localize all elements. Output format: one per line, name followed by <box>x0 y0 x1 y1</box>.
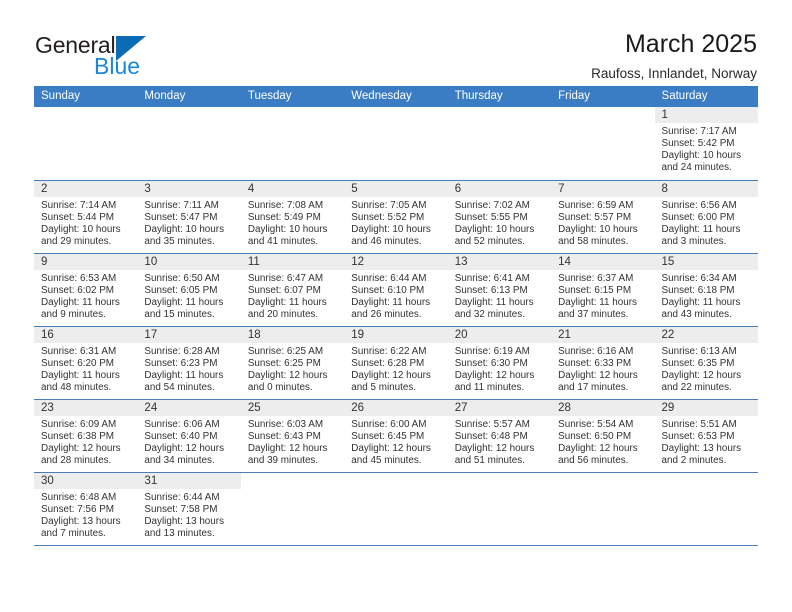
sunset-text: Sunset: 5:57 PM <box>558 212 649 224</box>
calendar-day-cell[interactable]: 13Sunrise: 6:41 AMSunset: 6:13 PMDayligh… <box>448 253 551 326</box>
sunset-text: Sunset: 7:58 PM <box>144 504 235 516</box>
sunset-text: Sunset: 6:40 PM <box>144 431 235 443</box>
calendar-day-cell[interactable]: 17Sunrise: 6:28 AMSunset: 6:23 PMDayligh… <box>137 326 240 399</box>
calendar-day-cell[interactable]: 31Sunrise: 6:44 AMSunset: 7:58 PMDayligh… <box>137 472 240 545</box>
daylight-text: Daylight: 10 hours and 41 minutes. <box>248 224 339 248</box>
sunrise-text: Sunrise: 6:50 AM <box>144 273 235 285</box>
sunrise-text: Sunrise: 7:11 AM <box>144 200 235 212</box>
day-details: Sunrise: 6:19 AMSunset: 6:30 PMDaylight:… <box>448 343 551 394</box>
sunrise-text: Sunrise: 6:06 AM <box>144 419 235 431</box>
calendar-week-row: 2Sunrise: 7:14 AMSunset: 5:44 PMDaylight… <box>34 180 758 253</box>
day-details: Sunrise: 5:57 AMSunset: 6:48 PMDaylight:… <box>448 416 551 467</box>
weekday-header-thursday: Thursday <box>448 86 551 107</box>
sunrise-text: Sunrise: 6:34 AM <box>662 273 753 285</box>
sunrise-text: Sunrise: 6:13 AM <box>662 346 753 358</box>
sunset-text: Sunset: 6:30 PM <box>455 358 546 370</box>
sunrise-text: Sunrise: 6:44 AM <box>351 273 442 285</box>
sunset-text: Sunset: 5:42 PM <box>662 138 753 150</box>
page-header: General Blue March 2025 Raufoss, Innland… <box>0 0 792 78</box>
calendar-cell-empty <box>448 107 551 180</box>
sunset-text: Sunset: 6:15 PM <box>558 285 649 297</box>
calendar-day-cell[interactable]: 16Sunrise: 6:31 AMSunset: 6:20 PMDayligh… <box>34 326 137 399</box>
day-number: 10 <box>137 254 240 270</box>
sunrise-text: Sunrise: 6:37 AM <box>558 273 649 285</box>
calendar-day-cell[interactable]: 22Sunrise: 6:13 AMSunset: 6:35 PMDayligh… <box>655 326 758 399</box>
sunrise-text: Sunrise: 5:57 AM <box>455 419 546 431</box>
day-number: 9 <box>34 254 137 270</box>
day-details: Sunrise: 6:37 AMSunset: 6:15 PMDaylight:… <box>551 270 654 321</box>
day-details: Sunrise: 6:56 AMSunset: 6:00 PMDaylight:… <box>655 197 758 248</box>
sunrise-text: Sunrise: 5:54 AM <box>558 419 649 431</box>
day-number: 16 <box>34 327 137 343</box>
daylight-text: Daylight: 11 hours and 43 minutes. <box>662 297 753 321</box>
sunset-text: Sunset: 7:56 PM <box>41 504 132 516</box>
day-details: Sunrise: 6:34 AMSunset: 6:18 PMDaylight:… <box>655 270 758 321</box>
calendar-day-cell[interactable]: 19Sunrise: 6:22 AMSunset: 6:28 PMDayligh… <box>344 326 447 399</box>
sunset-text: Sunset: 6:48 PM <box>455 431 546 443</box>
daylight-text: Daylight: 12 hours and 45 minutes. <box>351 443 442 467</box>
day-number: 23 <box>34 400 137 416</box>
logo-word-blue: Blue <box>94 55 235 78</box>
calendar-day-cell[interactable]: 15Sunrise: 6:34 AMSunset: 6:18 PMDayligh… <box>655 253 758 326</box>
calendar-day-cell[interactable]: 24Sunrise: 6:06 AMSunset: 6:40 PMDayligh… <box>137 399 240 472</box>
day-details: Sunrise: 6:03 AMSunset: 6:43 PMDaylight:… <box>241 416 344 467</box>
calendar-day-cell[interactable]: 3Sunrise: 7:11 AMSunset: 5:47 PMDaylight… <box>137 180 240 253</box>
sunset-text: Sunset: 5:55 PM <box>455 212 546 224</box>
daylight-text: Daylight: 13 hours and 2 minutes. <box>662 443 753 467</box>
calendar-day-cell[interactable]: 23Sunrise: 6:09 AMSunset: 6:38 PMDayligh… <box>34 399 137 472</box>
calendar-body: 1Sunrise: 7:17 AMSunset: 5:42 PMDaylight… <box>34 107 758 545</box>
calendar-day-cell[interactable]: 14Sunrise: 6:37 AMSunset: 6:15 PMDayligh… <box>551 253 654 326</box>
calendar-day-cell[interactable]: 21Sunrise: 6:16 AMSunset: 6:33 PMDayligh… <box>551 326 654 399</box>
daylight-text: Daylight: 12 hours and 51 minutes. <box>455 443 546 467</box>
weekday-header-monday: Monday <box>137 86 240 107</box>
sunset-text: Sunset: 6:50 PM <box>558 431 649 443</box>
day-details: Sunrise: 5:54 AMSunset: 6:50 PMDaylight:… <box>551 416 654 467</box>
day-details: Sunrise: 6:44 AMSunset: 6:10 PMDaylight:… <box>344 270 447 321</box>
general-blue-logo: General Blue <box>35 28 235 86</box>
day-details: Sunrise: 6:09 AMSunset: 6:38 PMDaylight:… <box>34 416 137 467</box>
daylight-text: Daylight: 12 hours and 56 minutes. <box>558 443 649 467</box>
calendar-cell-blank <box>241 472 344 545</box>
daylight-text: Daylight: 13 hours and 13 minutes. <box>144 516 235 540</box>
calendar-day-cell[interactable]: 26Sunrise: 6:00 AMSunset: 6:45 PMDayligh… <box>344 399 447 472</box>
day-details: Sunrise: 5:51 AMSunset: 6:53 PMDaylight:… <box>655 416 758 467</box>
calendar-cell-empty <box>137 107 240 180</box>
daylight-text: Daylight: 11 hours and 3 minutes. <box>662 224 753 248</box>
calendar-page: General Blue March 2025 Raufoss, Innland… <box>0 0 792 612</box>
daylight-text: Daylight: 12 hours and 22 minutes. <box>662 370 753 394</box>
sunset-text: Sunset: 6:00 PM <box>662 212 753 224</box>
sunset-text: Sunset: 6:53 PM <box>662 431 753 443</box>
calendar-cell-empty <box>344 107 447 180</box>
sunset-text: Sunset: 5:52 PM <box>351 212 442 224</box>
page-title: March 2025 <box>591 30 757 59</box>
day-details: Sunrise: 6:06 AMSunset: 6:40 PMDaylight:… <box>137 416 240 467</box>
sunrise-text: Sunrise: 6:22 AM <box>351 346 442 358</box>
sunrise-text: Sunrise: 5:51 AM <box>662 419 753 431</box>
daylight-text: Daylight: 11 hours and 37 minutes. <box>558 297 649 321</box>
calendar-day-cell[interactable]: 30Sunrise: 6:48 AMSunset: 7:56 PMDayligh… <box>34 472 137 545</box>
day-number: 2 <box>34 181 137 197</box>
sunset-text: Sunset: 6:28 PM <box>351 358 442 370</box>
day-number: 29 <box>655 400 758 416</box>
calendar-day-cell[interactable]: 4Sunrise: 7:08 AMSunset: 5:49 PMDaylight… <box>241 180 344 253</box>
day-number: 7 <box>551 181 654 197</box>
day-details: Sunrise: 6:25 AMSunset: 6:25 PMDaylight:… <box>241 343 344 394</box>
calendar-cell-blank <box>344 472 447 545</box>
calendar-day-cell[interactable]: 25Sunrise: 6:03 AMSunset: 6:43 PMDayligh… <box>241 399 344 472</box>
sunrise-text: Sunrise: 7:08 AM <box>248 200 339 212</box>
calendar-cell-blank <box>448 472 551 545</box>
calendar-day-cell[interactable]: 9Sunrise: 6:53 AMSunset: 6:02 PMDaylight… <box>34 253 137 326</box>
day-details: Sunrise: 6:53 AMSunset: 6:02 PMDaylight:… <box>34 270 137 321</box>
day-number: 28 <box>551 400 654 416</box>
daylight-text: Daylight: 10 hours and 46 minutes. <box>351 224 442 248</box>
daylight-text: Daylight: 12 hours and 39 minutes. <box>248 443 339 467</box>
sunrise-text: Sunrise: 6:16 AM <box>558 346 649 358</box>
calendar-cell-empty <box>34 107 137 180</box>
day-number: 26 <box>344 400 447 416</box>
day-number: 25 <box>241 400 344 416</box>
weekday-header-friday: Friday <box>551 86 654 107</box>
calendar-day-cell[interactable]: 28Sunrise: 5:54 AMSunset: 6:50 PMDayligh… <box>551 399 654 472</box>
day-details: Sunrise: 6:28 AMSunset: 6:23 PMDaylight:… <box>137 343 240 394</box>
daylight-text: Daylight: 11 hours and 15 minutes. <box>144 297 235 321</box>
calendar-week-row: 23Sunrise: 6:09 AMSunset: 6:38 PMDayligh… <box>34 399 758 472</box>
sunrise-text: Sunrise: 6:25 AM <box>248 346 339 358</box>
sunset-text: Sunset: 6:23 PM <box>144 358 235 370</box>
calendar-day-cell[interactable]: 5Sunrise: 7:05 AMSunset: 5:52 PMDaylight… <box>344 180 447 253</box>
day-details: Sunrise: 6:16 AMSunset: 6:33 PMDaylight:… <box>551 343 654 394</box>
day-number: 1 <box>655 107 758 123</box>
day-details: Sunrise: 6:47 AMSunset: 6:07 PMDaylight:… <box>241 270 344 321</box>
calendar-day-cell[interactable]: 10Sunrise: 6:50 AMSunset: 6:05 PMDayligh… <box>137 253 240 326</box>
sunset-text: Sunset: 6:38 PM <box>41 431 132 443</box>
calendar-cell-empty <box>551 107 654 180</box>
sunset-text: Sunset: 6:33 PM <box>558 358 649 370</box>
calendar-day-cell[interactable]: 27Sunrise: 5:57 AMSunset: 6:48 PMDayligh… <box>448 399 551 472</box>
daylight-text: Daylight: 11 hours and 48 minutes. <box>41 370 132 394</box>
day-details: Sunrise: 6:13 AMSunset: 6:35 PMDaylight:… <box>655 343 758 394</box>
calendar-container: SundayMondayTuesdayWednesdayThursdayFrid… <box>0 86 792 546</box>
calendar-table: SundayMondayTuesdayWednesdayThursdayFrid… <box>34 86 758 546</box>
day-number: 18 <box>241 327 344 343</box>
daylight-text: Daylight: 10 hours and 35 minutes. <box>144 224 235 248</box>
day-number: 31 <box>137 473 240 489</box>
calendar-header-row: SundayMondayTuesdayWednesdayThursdayFrid… <box>34 86 758 107</box>
sunrise-text: Sunrise: 6:03 AM <box>248 419 339 431</box>
sunrise-text: Sunrise: 7:05 AM <box>351 200 442 212</box>
calendar-week-row: 9Sunrise: 6:53 AMSunset: 6:02 PMDaylight… <box>34 253 758 326</box>
daylight-text: Daylight: 12 hours and 17 minutes. <box>558 370 649 394</box>
day-details: Sunrise: 7:05 AMSunset: 5:52 PMDaylight:… <box>344 197 447 248</box>
day-number: 3 <box>137 181 240 197</box>
day-number: 21 <box>551 327 654 343</box>
calendar-day-cell[interactable]: 29Sunrise: 5:51 AMSunset: 6:53 PMDayligh… <box>655 399 758 472</box>
sunrise-text: Sunrise: 7:14 AM <box>41 200 132 212</box>
calendar-cell-blank <box>655 472 758 545</box>
day-number: 12 <box>344 254 447 270</box>
weekday-header-wednesday: Wednesday <box>344 86 447 107</box>
day-number: 11 <box>241 254 344 270</box>
daylight-text: Daylight: 11 hours and 26 minutes. <box>351 297 442 321</box>
sunset-text: Sunset: 5:47 PM <box>144 212 235 224</box>
day-number: 19 <box>344 327 447 343</box>
sunset-text: Sunset: 6:07 PM <box>248 285 339 297</box>
daylight-text: Daylight: 11 hours and 32 minutes. <box>455 297 546 321</box>
sunrise-text: Sunrise: 6:28 AM <box>144 346 235 358</box>
sunrise-text: Sunrise: 6:44 AM <box>144 492 235 504</box>
sunrise-text: Sunrise: 6:47 AM <box>248 273 339 285</box>
day-details: Sunrise: 6:44 AMSunset: 7:58 PMDaylight:… <box>137 489 240 540</box>
sunrise-text: Sunrise: 6:09 AM <box>41 419 132 431</box>
sunset-text: Sunset: 6:13 PM <box>455 285 546 297</box>
calendar-day-cell[interactable]: 20Sunrise: 6:19 AMSunset: 6:30 PMDayligh… <box>448 326 551 399</box>
sunset-text: Sunset: 6:20 PM <box>41 358 132 370</box>
sunset-text: Sunset: 5:49 PM <box>248 212 339 224</box>
weekday-header-sunday: Sunday <box>34 86 137 107</box>
day-details: Sunrise: 6:41 AMSunset: 6:13 PMDaylight:… <box>448 270 551 321</box>
daylight-text: Daylight: 10 hours and 52 minutes. <box>455 224 546 248</box>
weekday-header-saturday: Saturday <box>655 86 758 107</box>
calendar-day-cell[interactable]: 2Sunrise: 7:14 AMSunset: 5:44 PMDaylight… <box>34 180 137 253</box>
day-number: 8 <box>655 181 758 197</box>
day-number: 13 <box>448 254 551 270</box>
day-details: Sunrise: 6:48 AMSunset: 7:56 PMDaylight:… <box>34 489 137 540</box>
day-number: 6 <box>448 181 551 197</box>
day-number: 22 <box>655 327 758 343</box>
sunset-text: Sunset: 6:35 PM <box>662 358 753 370</box>
day-details: Sunrise: 7:08 AMSunset: 5:49 PMDaylight:… <box>241 197 344 248</box>
daylight-text: Daylight: 12 hours and 5 minutes. <box>351 370 442 394</box>
day-number: 24 <box>137 400 240 416</box>
sunrise-text: Sunrise: 6:31 AM <box>41 346 132 358</box>
day-details: Sunrise: 6:31 AMSunset: 6:20 PMDaylight:… <box>34 343 137 394</box>
day-number: 14 <box>551 254 654 270</box>
day-number: 5 <box>344 181 447 197</box>
sunset-text: Sunset: 6:25 PM <box>248 358 339 370</box>
day-number: 20 <box>448 327 551 343</box>
calendar-day-cell[interactable]: 11Sunrise: 6:47 AMSunset: 6:07 PMDayligh… <box>241 253 344 326</box>
daylight-text: Daylight: 12 hours and 0 minutes. <box>248 370 339 394</box>
sunset-text: Sunset: 5:44 PM <box>41 212 132 224</box>
sunset-text: Sunset: 6:02 PM <box>41 285 132 297</box>
day-details: Sunrise: 7:17 AMSunset: 5:42 PMDaylight:… <box>655 123 758 174</box>
sunrise-text: Sunrise: 6:00 AM <box>351 419 442 431</box>
calendar-day-cell[interactable]: 8Sunrise: 6:56 AMSunset: 6:00 PMDaylight… <box>655 180 758 253</box>
daylight-text: Daylight: 11 hours and 54 minutes. <box>144 370 235 394</box>
weekday-header-tuesday: Tuesday <box>241 86 344 107</box>
calendar-week-row: 16Sunrise: 6:31 AMSunset: 6:20 PMDayligh… <box>34 326 758 399</box>
day-details: Sunrise: 7:11 AMSunset: 5:47 PMDaylight:… <box>137 197 240 248</box>
day-number: 30 <box>34 473 137 489</box>
day-number: 27 <box>448 400 551 416</box>
sunset-text: Sunset: 6:05 PM <box>144 285 235 297</box>
sunrise-text: Sunrise: 6:48 AM <box>41 492 132 504</box>
daylight-text: Daylight: 11 hours and 20 minutes. <box>248 297 339 321</box>
day-details: Sunrise: 6:00 AMSunset: 6:45 PMDaylight:… <box>344 416 447 467</box>
sunrise-text: Sunrise: 6:41 AM <box>455 273 546 285</box>
sunset-text: Sunset: 6:45 PM <box>351 431 442 443</box>
daylight-text: Daylight: 10 hours and 24 minutes. <box>662 150 753 174</box>
sunrise-text: Sunrise: 6:53 AM <box>41 273 132 285</box>
sunrise-text: Sunrise: 6:19 AM <box>455 346 546 358</box>
page-subtitle: Raufoss, Innlandet, Norway <box>591 66 757 81</box>
day-details: Sunrise: 6:59 AMSunset: 5:57 PMDaylight:… <box>551 197 654 248</box>
sunrise-text: Sunrise: 6:59 AM <box>558 200 649 212</box>
day-details: Sunrise: 6:50 AMSunset: 6:05 PMDaylight:… <box>137 270 240 321</box>
daylight-text: Daylight: 12 hours and 28 minutes. <box>41 443 132 467</box>
calendar-cell-blank <box>551 472 654 545</box>
day-number: 4 <box>241 181 344 197</box>
daylight-text: Daylight: 13 hours and 7 minutes. <box>41 516 132 540</box>
sunset-text: Sunset: 6:43 PM <box>248 431 339 443</box>
daylight-text: Daylight: 10 hours and 58 minutes. <box>558 224 649 248</box>
day-number: 15 <box>655 254 758 270</box>
sunset-text: Sunset: 6:10 PM <box>351 285 442 297</box>
calendar-cell-empty <box>241 107 344 180</box>
daylight-text: Daylight: 12 hours and 34 minutes. <box>144 443 235 467</box>
day-details: Sunrise: 7:14 AMSunset: 5:44 PMDaylight:… <box>34 197 137 248</box>
calendar-day-cell[interactable]: 6Sunrise: 7:02 AMSunset: 5:55 PMDaylight… <box>448 180 551 253</box>
daylight-text: Daylight: 11 hours and 9 minutes. <box>41 297 132 321</box>
calendar-week-row: 30Sunrise: 6:48 AMSunset: 7:56 PMDayligh… <box>34 472 758 545</box>
day-details: Sunrise: 6:22 AMSunset: 6:28 PMDaylight:… <box>344 343 447 394</box>
day-number: 17 <box>137 327 240 343</box>
sunset-text: Sunset: 6:18 PM <box>662 285 753 297</box>
calendar-day-cell[interactable]: 18Sunrise: 6:25 AMSunset: 6:25 PMDayligh… <box>241 326 344 399</box>
calendar-day-cell[interactable]: 7Sunrise: 6:59 AMSunset: 5:57 PMDaylight… <box>551 180 654 253</box>
calendar-day-cell[interactable]: 1Sunrise: 7:17 AMSunset: 5:42 PMDaylight… <box>655 107 758 180</box>
weekday-header-row: SundayMondayTuesdayWednesdayThursdayFrid… <box>34 86 758 107</box>
calendar-day-cell[interactable]: 12Sunrise: 6:44 AMSunset: 6:10 PMDayligh… <box>344 253 447 326</box>
calendar-week-row: 1Sunrise: 7:17 AMSunset: 5:42 PMDaylight… <box>34 107 758 180</box>
title-block: March 2025 Raufoss, Innlandet, Norway <box>591 28 757 81</box>
daylight-text: Daylight: 10 hours and 29 minutes. <box>41 224 132 248</box>
sunrise-text: Sunrise: 7:17 AM <box>662 126 753 138</box>
sunrise-text: Sunrise: 6:56 AM <box>662 200 753 212</box>
day-details: Sunrise: 7:02 AMSunset: 5:55 PMDaylight:… <box>448 197 551 248</box>
sunrise-text: Sunrise: 7:02 AM <box>455 200 546 212</box>
daylight-text: Daylight: 12 hours and 11 minutes. <box>455 370 546 394</box>
